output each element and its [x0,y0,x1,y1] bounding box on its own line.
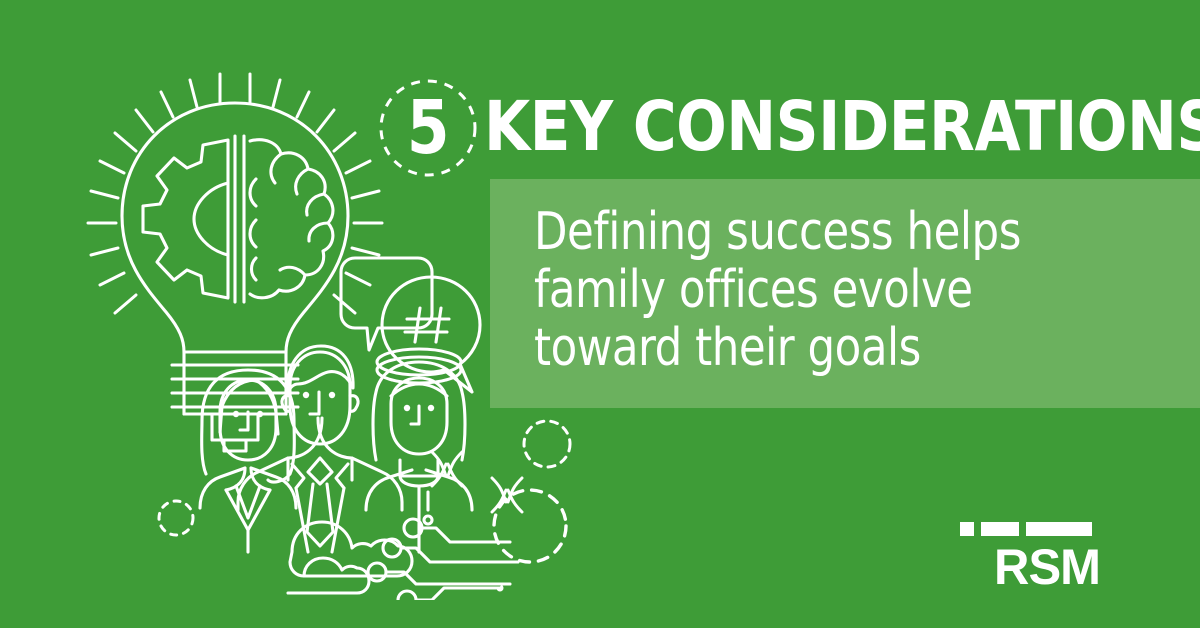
bulb-divider-icon [235,136,244,302]
number-value: 5 [407,91,450,165]
subtitle-line-3: toward their goals [534,319,1129,377]
logo-bar-small [960,522,974,536]
headline: 5 KEY CONSIDERATIONS [378,78,1200,178]
logo-bar-medium [981,522,1019,536]
poster-canvas: Defining success helps family offices ev… [0,0,1200,628]
logo-bar-large [1026,522,1092,536]
number-badge: 5 [378,78,478,178]
subtitle-line-1: Defining success helps [534,203,1129,261]
sunburst-icon [524,421,570,467]
subtitle-line-2: family offices evolve [534,261,1129,319]
brain-half-icon [250,140,333,298]
subtitle-panel: Defining success helps family offices ev… [490,179,1200,408]
bulb-screw-base-icon [172,352,298,451]
rsm-logo: RSM [960,522,1100,590]
gear-half-icon [143,140,228,298]
logo-wordmark: RSM [963,542,1100,592]
logo-bars [960,522,1100,536]
subtitle-text: Defining success helps family offices ev… [534,203,1129,377]
sunburst-icon [159,501,193,535]
sparkle-icon [492,478,522,512]
circuit-icon [368,519,518,600]
sunburst-icon [494,490,566,562]
page-title: KEY CONSIDERATIONS [484,92,1200,162]
